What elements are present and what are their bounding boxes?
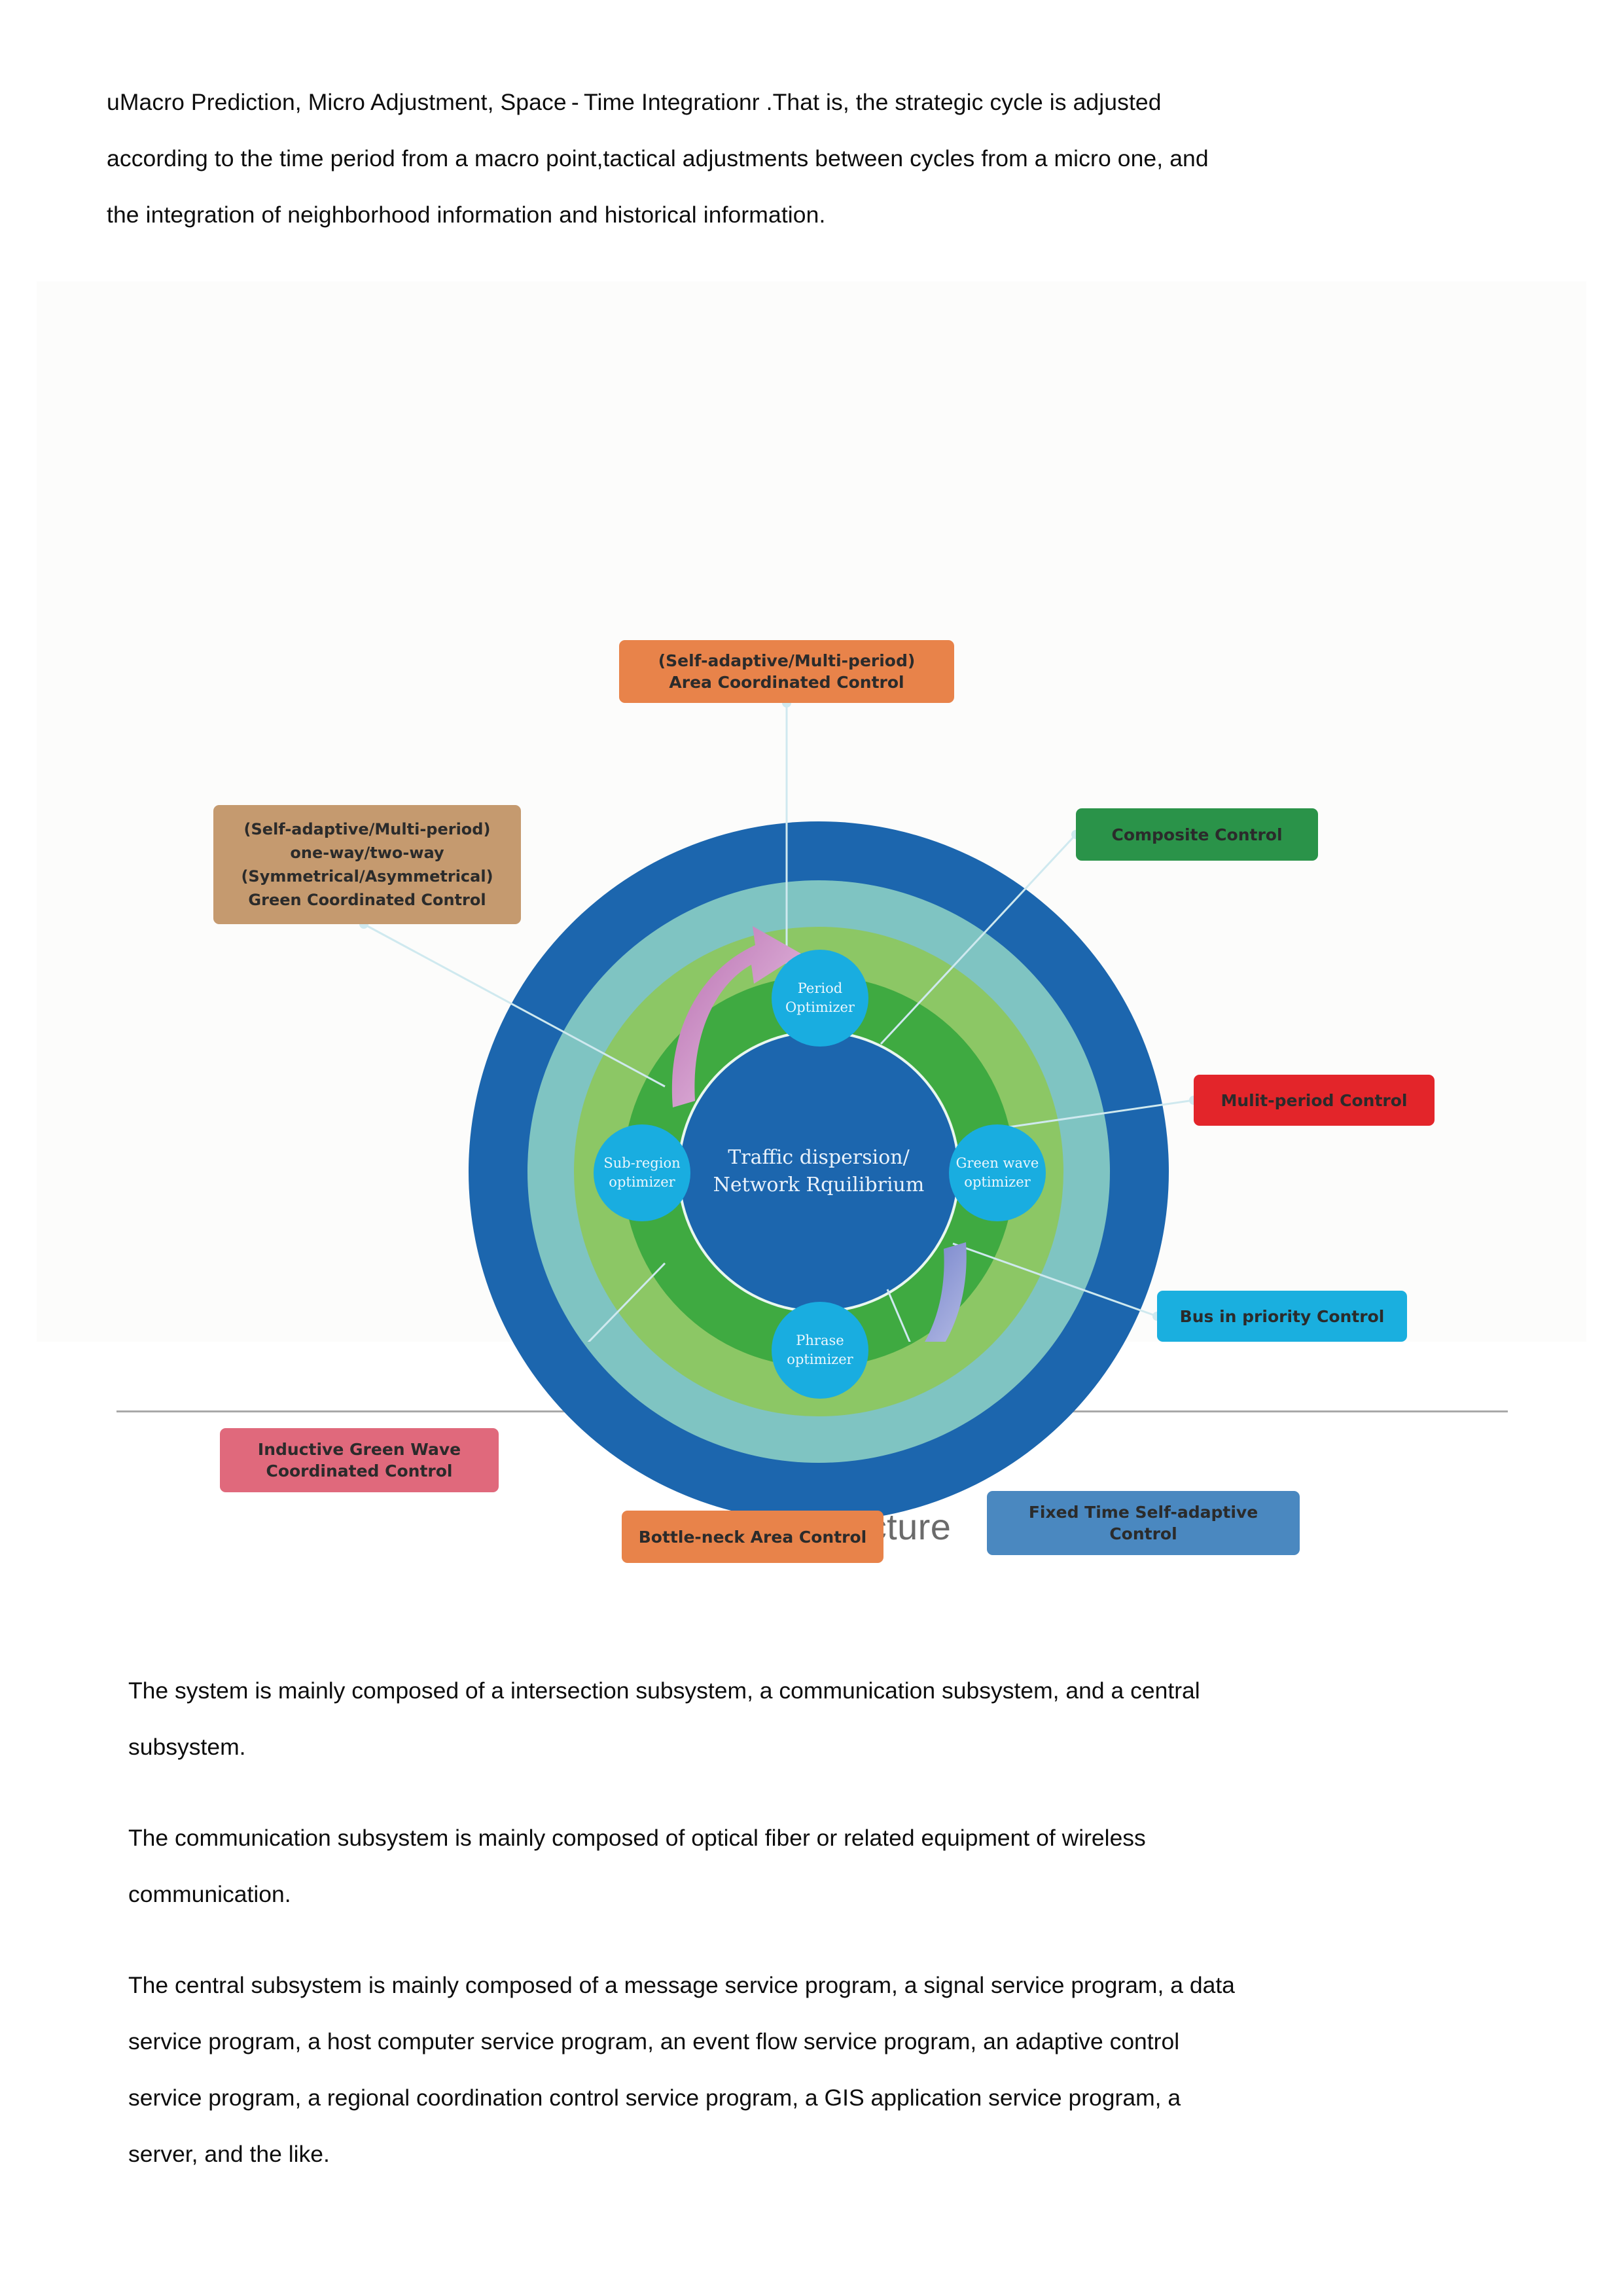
label-composite-control[interactable]: Composite Control	[1076, 808, 1318, 861]
node-period-line-2: Optimizer	[785, 998, 855, 1017]
p2-line-1: The communication subsystem is mainly co…	[128, 1810, 1500, 1866]
label-mulit-period-control[interactable]: Mulit-period Control	[1194, 1075, 1435, 1126]
p1-line-2: subsystem.	[128, 1719, 1500, 1775]
label-bottleneck-text: Bottle-neck Area Control	[639, 1526, 867, 1548]
node-period-optimizer[interactable]: Period Optimizer	[772, 950, 868, 1047]
concentric-control-diagram: Traffic dispersion/ Network Rquilibrium	[37, 281, 1586, 1342]
label-fixed-time-self-adaptive-control[interactable]: Fixed Time Self-adaptive Control	[987, 1491, 1300, 1555]
intro-paragraph: uMacro Prediction, Micro Adjustment, Spa…	[107, 74, 1516, 243]
node-phrase-optimizer[interactable]: Phrase optimizer	[772, 1302, 868, 1399]
p3-line-1: The central subsystem is mainly composed…	[128, 1957, 1500, 2013]
label-green-line-1: (Self-adaptive/Multi-period)	[241, 817, 493, 841]
p3-line-2: service program, a host computer service…	[128, 2013, 1500, 2070]
label-bottle-neck-area-control[interactable]: Bottle-neck Area Control	[622, 1511, 883, 1563]
p1-line-1: The system is mainly composed of a inter…	[128, 1662, 1500, 1719]
label-inductive-line-1: Inductive Green Wave	[258, 1439, 461, 1460]
node-subregion-line-1: Sub-region	[603, 1154, 680, 1173]
control-strategy-figure: Traffic dispersion/ Network Rquilibrium	[37, 281, 1586, 1342]
label-fixed-line-1: Fixed Time Self-adaptive	[1029, 1501, 1258, 1523]
label-area-line-2: Area Coordinated Control	[658, 672, 916, 693]
label-bus-text: Bus in priority Control	[1180, 1306, 1385, 1327]
label-area-line-1: (Self-adaptive/Multi-period)	[658, 650, 916, 672]
p2-line-2: communication.	[128, 1866, 1500, 1922]
paragraph-system-composition: The system is mainly composed of a inter…	[128, 1662, 1500, 1775]
node-sub-region-optimizer[interactable]: Sub-region optimizer	[594, 1124, 690, 1221]
label-green-line-3: (Symmetrical/Asymmetrical)	[241, 865, 493, 888]
label-multiperiod-text: Mulit-period Control	[1221, 1090, 1407, 1111]
node-subregion-line-2: optimizer	[603, 1173, 680, 1192]
intro-line-2: according to the time period from a macr…	[107, 130, 1516, 187]
label-green-coordinated-control[interactable]: (Self-adaptive/Multi-period) one-way/two…	[213, 805, 521, 924]
paragraph-communication-subsystem: The communication subsystem is mainly co…	[128, 1810, 1500, 1922]
label-fixed-line-2: Control	[1029, 1523, 1258, 1545]
node-phrase-line-2: optimizer	[787, 1350, 853, 1369]
label-green-line-4: Green Coordinated Control	[241, 888, 493, 912]
intro-line-3: the integration of neighborhood informat…	[107, 187, 1516, 243]
node-green-wave-optimizer[interactable]: Green wave optimizer	[949, 1124, 1046, 1221]
label-composite-text: Composite Control	[1111, 824, 1282, 846]
intro-line-1: uMacro Prediction, Micro Adjustment, Spa…	[107, 74, 1516, 130]
p3-line-4: server, and the like.	[128, 2126, 1500, 2182]
label-bus-in-priority-control[interactable]: Bus in priority Control	[1157, 1291, 1407, 1342]
node-greenwave-line-2: optimizer	[956, 1173, 1039, 1192]
label-inductive-line-2: Coordinated Control	[258, 1460, 461, 1482]
label-green-line-2: one-way/two-way	[241, 841, 493, 865]
node-greenwave-line-1: Green wave	[956, 1154, 1039, 1173]
node-phrase-line-1: Phrase	[787, 1331, 853, 1350]
paragraph-central-subsystem: The central subsystem is mainly composed…	[128, 1957, 1500, 2182]
label-inductive-green-wave-control[interactable]: Inductive Green Wave Coordinated Control	[220, 1428, 499, 1492]
label-area-coordinated-control[interactable]: (Self-adaptive/Multi-period) Area Coordi…	[619, 640, 954, 703]
node-period-line-1: Period	[785, 979, 855, 998]
p3-line-3: service program, a regional coordination…	[128, 2070, 1500, 2126]
